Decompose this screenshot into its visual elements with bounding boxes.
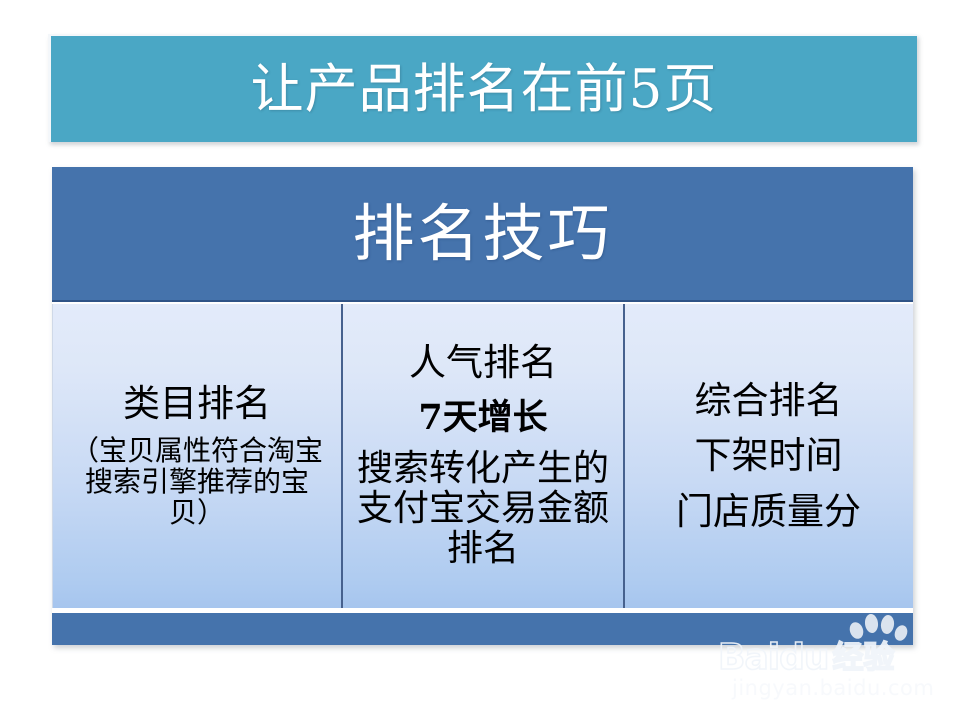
table-column-comprehensive-ranking: 综合排名 下架时间 门店质量分 [623,304,912,608]
table-column-popularity-ranking: 人气排名 7天增长 搜索转化产生的支付宝交易金额排名 [341,304,623,608]
column-1-heading: 类目排名 [123,383,271,424]
page-title: 让产品排名在前5页 [251,63,718,116]
table-header-title: 排名技巧 [352,203,612,265]
column-1-note: （宝贝属性符合淘宝搜索引擎推荐的宝贝） [70,435,325,529]
column-2-heading: 人气排名 [409,342,557,383]
watermark-brand: Baidu [718,640,828,676]
ranking-techniques-table: 排名技巧 类目排名 （宝贝属性符合淘宝搜索引擎推荐的宝贝） 人气排名 7天增长 … [52,167,913,645]
watermark-brand-cn: 经验 [832,643,894,674]
slide-canvas: 让产品排名在前5页 排名技巧 类目排名 （宝贝属性符合淘宝搜索引擎推荐的宝贝） … [0,0,960,720]
column-2-note: 搜索转化产生的支付宝交易金额排名 [354,449,612,570]
column-3-line-3: 门店质量分 [676,491,861,532]
column-2-subheading: 7天增长 [418,398,547,437]
column-3-heading: 综合排名 [695,380,843,421]
slide-title-banner: 让产品排名在前5页 [48,34,917,142]
table-column-category-ranking: 类目排名 （宝贝属性符合淘宝搜索引擎推荐的宝贝） [53,304,341,608]
table-body: 类目排名 （宝贝属性符合淘宝搜索引擎推荐的宝贝） 人气排名 7天增长 搜索转化产… [52,304,913,608]
table-footer-band [52,613,913,645]
watermark-url: jingyan.baidu.com [732,678,934,699]
table-header-band: 排名技巧 [52,167,913,302]
column-3-line-2: 下架时间 [695,435,843,476]
